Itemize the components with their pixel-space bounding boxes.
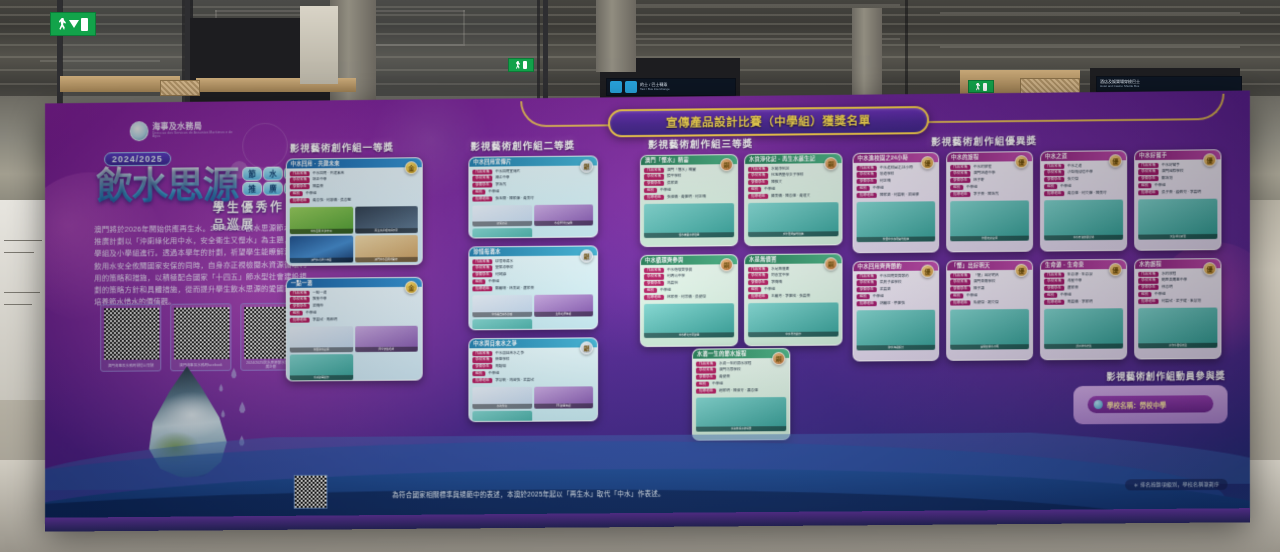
entry-meta-key: 組別 [644,188,657,194]
entry-meta-key: 參賽學生 [1138,285,1158,291]
entry-screenshot[interactable]: 同學訪談紀錄 [355,326,418,352]
entry-meta-row: 組別中學組 [1138,182,1217,188]
entry-meta-key: 學校名稱 [748,273,768,279]
entry-card[interactable]: 中水回用齊齊節約優作品名稱中水回用齊齊節約學校名稱菜農子弟學校參賽學生梁嘉樂組別… [853,260,940,361]
entry-meta-value: 周穎琳 [495,364,506,369]
entry-meta-key: 組別 [950,185,963,191]
entry-meta: 作品名稱中水與自來水之爭學校名稱新華學校參賽學生周穎琳組別中學組指導老師李慧敏 … [469,347,597,385]
entry-screenshot[interactable]: VS 動畫海報 [534,386,593,408]
entry-meta-row: 學校名稱澳門東南學校 [950,279,1029,285]
mobilization-school-pill: 學校名稱：勞校中學 [1088,395,1214,413]
entry-card[interactable]: 中水回用宣傳片銀作品名稱中水回用宣傳片學校名稱濠江中學參賽學生李浩然組別中學組指… [468,155,598,238]
entry-meta-value: 水質淨化記 [771,166,789,171]
entry-meta-row: 指導老師張玉蘭 · 陳家輝 · 黃美玲 [472,195,594,202]
entry-meta-key: 組別 [472,189,485,195]
entry-meta-row: 組別中學組 [748,286,838,292]
entry-screenshot[interactable]: 水滴動畫創作 [290,354,353,380]
screenshot-caption: 水資源對比實驗 [534,220,593,226]
taxi-icon [610,81,622,93]
exit-sign-left [50,12,96,36]
entry-meta-key: 學校名稱 [290,178,310,184]
entry-screenshot[interactable]: 校園節水宣傳 [290,326,353,352]
entry-meta-value: 陳子謙 [973,286,984,291]
entry-screenshot[interactable]: 訪問片段 [472,205,531,227]
awards-banner: 宣傳產品設計比賽（中學組）獲獎名單 [608,106,929,137]
entry-meta-key: 指導老師 [1044,191,1064,197]
entry-screenshot[interactable]: 水滴旅程手繪場景 [696,397,786,432]
entry-screenshot[interactable]: 中水循環宣傳短劇 [472,319,531,330]
entry-meta-key: 組別 [1138,292,1151,298]
entry-meta-key: 參賽學生 [472,272,492,278]
entry-screenshot[interactable]: 天台綠化澆灌 [1138,199,1217,240]
entry-meta-value: 澳門培道中學 [973,171,995,176]
entry-meta-value: 李曉晴 [771,280,782,285]
screenshot-caption: 慳水精靈手繪插畫 [644,232,734,238]
entry-meta-row: 指導老師周嘉儀 · 李家明 [1044,299,1123,305]
section-heading-merit: 影視藝術創作組優異獎 [931,133,1037,148]
terminal-scene: 的士 / 巴士轉乘 Taxi / Bus Interchange 酒店及娛樂場穿… [0,0,1280,552]
entry-meta-value: 吳家樂 [667,181,678,186]
entry-meta-key: 作品名稱 [472,259,492,265]
title-bubble-0: 節 [242,167,262,181]
entry-meta-value: 陳嘉豪 [313,184,324,189]
entry-meta-row: 學校名稱化地瑪聖母女子學校 [748,172,838,178]
entry-meta-key: 學校名稱 [472,357,492,363]
entry-meta-value: 澳門東南學校 [973,280,995,285]
entry-meta-value: 胡麗珍 · 蔡偉強 [880,301,905,306]
entry-screenshot[interactable]: 校園走廊宣傳 [950,200,1029,241]
entry-screenshot[interactable]: 節水海報設計 [857,310,936,351]
entry-meta-row: 參賽學生何婉婷 [472,271,594,277]
entry-card[interactable]: 一點一滴金作品名稱一點一滴學校名稱教業中學參賽學生梁曉彤組別中學組指導老師李嘉欣… [286,277,423,382]
entry-meta-value: 陳雅文 [771,180,782,185]
entry-screenshot[interactable]: 中水轉化示意動畫 [644,303,734,338]
entry-meta-key: 作品名稱 [1044,272,1064,278]
entry-meta-key: 指導老師 [696,388,716,394]
entry-meta-row: 組別中學組 [857,293,936,299]
title-bubble-5: 廣 [263,181,283,195]
screenshot-caption: 校園節水宣傳 [290,347,353,352]
entry-meta-value: 化地瑪聖母女子學校 [771,173,803,178]
entry-meta-key: 學校名稱 [1138,278,1158,284]
entry-title: 「慳」出好明天 [951,262,990,269]
section-heading-third: 影視藝術創作組三等獎 [648,136,753,151]
entry-meta-row: 參賽學生馮嘉怡 [644,280,734,286]
entry-meta-row: 組別中學組 [950,293,1029,299]
entry-meta-key: 參賽學生 [644,181,664,187]
entry-meta-value: 蘇美儀 · 陳志偉 · 黃頌文 [771,193,810,198]
entry-meta-key: 指導老師 [857,301,877,307]
entry-screenshots: 校園中水應用實地拍攝 [854,199,939,245]
entry-meta-value: 李浩然 [495,183,506,188]
entry-meta-value: 澳門國際學校 [1162,169,1184,174]
entry-title: 中水好幫手 [1139,152,1167,159]
entry-meta-key: 組別 [696,381,709,386]
entry-meta-value: 珍惜每滴水 [495,259,513,264]
entry-meta-row: 學校名稱教業中學 [290,296,419,302]
entry-meta-key: 作品名稱 [748,166,768,172]
entry-card[interactable]: 中水的旅程優作品名稱中水的旅程學校名稱澳門培道中學參賽學生林子軒組別中學組指導老… [946,151,1033,252]
entry-meta-key: 作品名稱 [1138,162,1158,168]
entry-meta-key: 學校名稱 [644,174,664,180]
entry-meta-row: 指導老師黃志偉 · 何文輝 · 陳美玲 [1044,190,1123,196]
entry-title: 中水的旅程 [951,154,979,161]
entry-meta-value: 利瑪竇中學 [667,274,685,279]
entry-meta-value: 中學組 [712,381,723,386]
entry-meta-key: 學校名稱 [857,172,877,178]
screenshot-caption: 中水書法創作 [748,332,838,338]
qr-image[interactable] [174,307,229,359]
government-logo: 海事及水務局 Direccao dos Servicos de Assuntos… [130,119,237,142]
entry-meta-value: 中學組 [488,371,499,376]
entry-meta-key: 參賽學生 [857,179,877,185]
entry-card[interactable]: 生命源 · 生命泉優作品名稱生命源 · 生命泉學校名稱海星中學參賽學生盧家豪組別… [1040,259,1127,360]
entry-meta-row: 學校名稱鮑思高粵華中學 [1138,278,1217,284]
entry-meta-row: 參賽學生張文傑 [1044,176,1123,182]
entry-meta-key: 組別 [290,311,303,316]
screenshot-caption: 天台綠化澆灌 [1138,234,1217,240]
entry-meta-value: 澳門坊眾學校 [719,368,741,373]
wayfinding-en: Taxi / Bus Interchange [640,87,670,92]
entry-meta-key: 學校名稱 [857,280,877,286]
entry-meta-value: 「慳」出好明天 [973,273,998,278]
entry-meta-row: 組別中學組 [950,184,1029,190]
screenshot-caption: 中水管道參觀記錄 [1044,235,1123,241]
entry-meta-value: 何芷晴 [880,179,891,184]
entry-meta-value: 趙家明 · 陳淑芬 · 蕭志偉 [719,388,758,393]
entry-meta-value: 鄭浩賢 [1162,176,1173,181]
entry-meta-row: 指導老師李嘉欣 · 周啟明 [290,316,419,322]
screenshot-caption: 親子節水訪談 [1044,343,1123,349]
entry-meta-value: 菜農子弟學校 [880,280,902,285]
entry-meta-key: 學校名稱 [748,173,768,179]
entry-meta-value: 何嘉欣 · 梁子健 · 朱慧賢 [1162,298,1201,303]
entry-meta-key: 組別 [644,288,657,293]
entry-meta-key: 組別 [857,186,870,192]
medal-icon: 銀 [580,249,593,262]
entry-meta-key: 指導老師 [748,294,768,300]
awards-banner-title: 宣傳產品設計比賽（中學組）獲獎名單 [666,113,871,131]
bus-icon [625,81,637,93]
entry-screenshot[interactable]: 節水小廚房 [472,411,531,422]
exit-sign-mid [508,58,534,72]
entry-card[interactable]: 中水回用 · 共建未來金作品名稱中水回用 · 共建未來學校名稱培正中學參賽學生陳… [286,157,423,266]
entry-meta-value: 中學組 [306,191,317,196]
entry-title: 中水回用宣傳片 [473,158,511,165]
entry-meta-row: 指導老師蘇美儀 · 陳志偉 · 黃頌文 [748,193,838,199]
section-heading-first: 影視藝術創作組一等獎 [290,140,394,155]
entry-meta-value: 一點一滴 [313,290,327,295]
entry-meta-row: 學校名稱海星中學 [1044,278,1123,284]
entry-meta-key: 學校名稱 [696,368,716,374]
entry-meta-key: 指導老師 [472,378,492,384]
entry-meta-key: 參賽學生 [1138,176,1158,182]
medal-icon: 銀 [580,341,593,354]
title-bubble-4: 推 [242,182,262,196]
entry-screenshot[interactable]: 再生水處理流程示意 [355,206,418,233]
entry-meta-key: 參賽學生 [1044,286,1064,292]
entry-meta-value: 黃俊豪 [719,375,730,380]
entry-meta-key: 指導老師 [290,198,310,204]
entry-screenshots: 水滴旅程手繪場景 [693,395,789,435]
entry-meta-value: 黃志強 · 何惠儀 · 吳志堅 [313,198,351,203]
entry-screenshot[interactable]: 中水回用 共建未來 [290,207,353,234]
entry-meta-value: 澳門「慳水」精靈 [667,167,696,172]
entry-title: 中水之道 [1045,153,1067,160]
entry-meta-value: 水是無價寶 [771,266,789,271]
entry-meta-value: 張文傑 [1067,177,1078,182]
entry-screenshot[interactable]: 中水與自來水比較 [472,295,531,317]
entry-card[interactable]: 水滴一生的節水旅程銅作品名稱水滴一生的節水旅程學校名稱澳門坊眾學校參賽學生黃俊豪… [692,348,790,441]
entry-title: 生命源 · 生命泉 [1045,261,1084,268]
entry-title: 中水進校園之24小時 [858,154,909,162]
entry-screenshots: 中水管道參觀記錄 [1041,198,1126,244]
screenshot-caption: 校園中水應用實地拍攝 [857,236,936,242]
entry-meta: 作品名稱珍惜每滴水學校名稱聖保祿學校參賽學生何婉婷組別中學組指導老師鄭麗珊 · … [469,255,597,293]
medal-icon: 銅 [824,157,837,170]
entry-meta-value: 中學組 [873,186,884,191]
entry-meta-value: 培正中學 [313,178,327,183]
entry-meta-value: 中水好幫手 [1162,162,1180,167]
entry-card[interactable]: 中水與自來水之爭銀作品名稱中水與自來水之爭學校名稱新華學校參賽學生周穎琳組別中學… [468,337,598,422]
entry-card[interactable]: 澳門「慳水」精靈銅作品名稱澳門「慳水」精靈學校名稱鏡平學校參賽學生吳家樂組別中學… [640,154,738,247]
entry-screenshot[interactable]: 實驗室節水示範 [950,309,1029,350]
entry-screenshot[interactable]: 中水管道參觀記錄 [1044,200,1123,241]
mobilization-school: 學校名稱：勞校中學 [1107,399,1166,409]
entry-screenshot[interactable]: 生命之源海報 [534,294,593,316]
entry-meta-row: 參賽學生林子軒 [950,177,1029,183]
entry-meta-row: 學校名稱同善堂中學 [748,273,838,279]
entry-meta-key: 作品名稱 [857,274,877,280]
entry-meta-key: 組別 [748,287,761,293]
entry-meta-row: 作品名稱中水回用宣傳片 [472,168,594,175]
entry-meta-value: 中學組 [660,288,671,293]
droplet-bullet-icon [1094,400,1103,409]
entry-meta-row: 參賽學生陳子謙 [950,286,1029,292]
footer-qr-code[interactable] [294,475,328,509]
entry-title: 水質淨化記 · 再生水誕生記 [749,155,815,163]
mobilization-award-heading: 影視藝術創作組動員參與獎 [1106,369,1225,383]
entry-title: 澳門「慳水」精靈 [645,157,689,164]
entry-meta-key: 參賽學生 [696,375,716,381]
entry-meta-value: 中學組 [764,287,775,292]
entry-card[interactable]: 中水之道優作品名稱中水之道學校名稱沙梨頭浸信中學參賽學生張文傑組別中學組指導老師… [1040,150,1127,251]
entry-meta-value: 中學組 [1060,184,1071,189]
entry-meta-key: 組別 [290,191,303,196]
entry-meta-value: 徐志明 [1162,285,1173,290]
entry-meta-value: 陳家樂 · 何嘉敏 · 梁國權 [880,192,919,197]
entry-screenshot[interactable]: 戶外灌溉實地拍攝 [748,202,838,237]
entry-meta-key: 作品名稱 [290,290,310,296]
entry-meta-value: 吳子豪 · 鍾佩兒 · 李嘉明 [1162,190,1201,195]
entry-meta-value: 盧家豪 [1067,286,1078,291]
entry-meta-row: 學校名稱沙梨頭浸信中學 [1044,170,1123,176]
entry-screenshot[interactable]: 水資源對比實驗 [534,204,593,226]
entry-meta-row: 學校名稱庇道學校 [857,171,936,177]
entry-meta-key: 參賽學生 [748,180,768,186]
entry-meta-row: 組別中學組 [290,310,419,316]
entry-meta-value: 海星中學 [1067,279,1082,284]
entry-screenshots: 戶外灌溉實地拍攝 [745,200,841,240]
entry-screenshots: 中水轉化示意動畫 [641,301,737,341]
entry-meta-value: 新華學校 [495,357,509,362]
entry-meta-value: 中學組 [488,189,499,194]
entry-screenshot[interactable]: 慳水精靈手繪插畫 [644,203,734,238]
entry-meta: 作品名稱中水回用 · 共建未來學校名稱培正中學參賽學生陳嘉豪組別中學組指導老師黃… [287,167,422,205]
entry-meta-value: 中學組 [488,279,499,284]
entry-meta-key: 指導老師 [950,192,970,198]
entry-meta-row: 作品名稱珍惜每滴水 [472,258,594,264]
entry-screenshots: 實驗室節水示範 [947,307,1032,353]
entry-meta-key: 作品名稱 [857,165,877,171]
entry-meta-key: 作品名稱 [748,266,768,272]
entry-meta-value: 沙梨頭浸信中學 [1067,170,1092,175]
screenshot-caption: VS 動畫海報 [534,403,593,408]
entry-screenshot[interactable]: 手作水循環模型 [1138,308,1217,349]
entry-meta-key: 組別 [472,279,485,284]
entry-meta-key: 指導老師 [857,192,877,198]
entry-meta-row: 指導老師林家豪 · 何潔儀 · 吳俊傑 [644,294,734,300]
entry-meta-row: 指導老師黃志強 · 何惠儀 · 吳志堅 [290,197,419,204]
wayfinding-sign-shuttle: 酒店及娛樂場穿梭巴士 Hotel and Casino Shuttle Bus [1096,76,1242,92]
entry-card[interactable]: 水的旅程優作品名稱水的旅程學校名稱鮑思高粵華中學參賽學生徐志明組別中學組指導老師… [1134,258,1221,359]
entry-meta-value: 李子豪 · 陳浩然 [973,191,998,196]
entry-meta-row: 組別中學組 [290,190,419,197]
medal-icon: 優 [1109,154,1122,167]
entry-meta-value: 聖保祿學校 [495,266,513,271]
entry-meta-row: 參賽學生李曉晴 [748,279,838,285]
entry-card[interactable]: 水質淨化記 · 再生水誕生記銅作品名稱水質淨化記學校名稱化地瑪聖母女子學校參賽學… [744,153,842,246]
entry-meta-row: 參賽學生梁嘉樂 [857,287,936,293]
entry-meta-value: 庇道學校 [880,172,894,177]
screenshot-caption: 節水海報設計 [857,345,936,351]
entry-card[interactable]: 珍惜每滴水銀作品名稱珍惜每滴水學校名稱聖保祿學校參賽學生何婉婷組別中學組指導老師… [468,245,598,330]
entry-meta-row: 參賽學生徐志明 [1138,284,1217,290]
entry-screenshot[interactable]: 澳門水資源分佈圖 [290,236,353,263]
mobilization-award-card: 學校名稱：勞校中學 [1073,385,1227,424]
left-wall-panel [0,200,46,400]
entry-meta-row: 指導老師張淑儀 · 黃偉明 · 何芷晴 [644,194,734,200]
entry-meta-row: 組別中學組 [644,187,734,193]
entry-meta-key: 參賽學生 [950,286,970,292]
entry-meta-row: 參賽學生何芷晴 [857,178,936,184]
entry-screenshot[interactable]: 澳門中水回用規劃表 [355,235,418,262]
screenshot-caption: 再生水處理流程示意 [355,228,418,234]
medal-icon: 金 [405,161,418,174]
screenshot-caption: 校園走廊宣傳 [950,236,1029,242]
entry-meta-value: 濠江中學 [495,176,509,181]
entry-meta-value: 林子軒 [973,178,984,183]
entry-meta-value: 黃志偉 · 何文輝 · 陳美玲 [1067,190,1106,195]
screenshot-caption: 戶外灌溉實地拍攝 [748,231,838,237]
screenshot-caption: 中水回用 共建未來 [290,229,353,235]
structural-pillar [596,0,636,72]
screenshot-caption: 中水轉化示意動畫 [644,332,734,338]
entry-screenshots: 中水回用 共建未來再生水處理流程示意澳門水資源分佈圖澳門中水回用規劃表 [287,204,422,266]
entry-meta-value: 梁嘉樂 [880,287,891,292]
structural-pillar [852,8,882,98]
entry-title: 水的旅程 [1139,261,1161,268]
entry-meta: 作品名稱一點一滴學校名稱教業中學參賽學生梁曉彤組別中學組指導老師李嘉欣 · 周啟… [287,287,422,325]
entry-meta-value: 鄭麗珊 · 林美霞 · 盧家豪 [495,286,534,291]
entry-meta-key: 作品名稱 [472,351,492,357]
entry-card[interactable]: 水是無價寶銅作品名稱水是無價寶學校名稱同善堂中學參賽學生李曉晴組別中學組指導老師… [744,253,842,346]
entry-meta-value: 中水之道 [1067,163,1082,168]
entry-card[interactable]: 中水好幫手優作品名稱中水好幫手學校名稱澳門國際學校參賽學生鄭浩賢組別中學組指導老… [1134,149,1221,251]
entry-meta-row: 學校名稱澳門坊眾學校 [696,367,786,373]
exhibition-board: 宣傳產品設計比賽（中學組）獲獎名單 海事及水務局 Direccao dos Se… [45,90,1250,523]
medal-icon: 銀 [580,159,593,172]
entry-screenshot[interactable]: 中水回用小劇場 [472,228,531,239]
entry-meta-value: 林家豪 · 何潔儀 · 吳俊傑 [667,294,706,299]
entry-title: 水是無價寶 [749,256,777,263]
entry-meta-key: 作品名稱 [472,169,492,175]
entry-meta-key: 參賽學生 [472,364,492,370]
entry-meta-value: 張玉蘭 · 陳家輝 · 黃美玲 [495,196,534,201]
entry-meta-row: 參賽學生鄭浩賢 [1138,176,1217,182]
entry-meta-key: 學校名稱 [1138,169,1158,175]
entry-screenshots: 節水海報設計 [854,308,939,354]
entry-meta-row: 作品名稱中水回用 · 共建未來 [290,170,419,177]
service-counter [300,6,338,84]
entry-screenshot[interactable]: 親子節水訪談 [1044,308,1123,349]
entry-title: 中水循環齊參與 [645,257,683,264]
entry-card[interactable]: 「慳」出好明天優作品名稱「慳」出好明天學校名稱澳門東南學校參賽學生陳子謙組別中學… [946,260,1033,361]
section-heading-second: 影視藝術創作組二等獎 [470,138,575,153]
entry-meta-key: 組別 [748,187,761,193]
medal-icon: 優 [921,156,934,169]
qr-image[interactable] [104,308,159,360]
entry-meta-row: 參賽學生陳嘉豪 [290,183,419,190]
entry-meta-key: 指導老師 [644,294,664,300]
entry-meta-row: 組別中學組 [1044,292,1123,298]
entry-meta-key: 學校名稱 [644,274,664,280]
entry-meta-value: 中水進校園之24小時 [880,165,913,170]
entry-meta-row: 參賽學生周穎琳 [472,363,594,369]
entry-meta-row: 參賽學生梁曉彤 [290,303,419,309]
entry-card[interactable]: 中水循環齊參與銅作品名稱中水循環齊參與學校名稱利瑪竇中學參賽學生馮嘉怡組別中學組… [640,254,738,347]
entry-screenshot[interactable]: 水的對決 [472,387,531,409]
entry-meta-value: 鏡平學校 [667,174,681,179]
screenshot-caption: 水的對決 [472,404,531,409]
entry-screenshot[interactable]: 中水書法創作 [748,302,838,337]
entry-meta-row: 學校名稱利瑪竇中學 [644,274,734,280]
medal-icon: 銅 [824,257,837,270]
entry-meta-key: 學校名稱 [950,171,970,177]
entry-meta-value: 中學組 [1060,293,1071,298]
campaign-title-lockup: 2024/2025 飲水思源 節水教育推廣計劃 學生優秀作品巡展 [96,151,294,218]
entry-title: 中水回用 · 共建未來 [291,160,340,167]
entry-meta-key: 組別 [950,293,963,299]
entry-meta-row: 組別中學組 [472,278,594,284]
entry-meta-row: 指導老師胡麗珍 · 蔡偉強 [857,300,936,306]
entry-meta-row: 組別中學組 [857,185,936,191]
entry-meta-value: 王麗芳 · 李偉成 · 張嘉豪 [771,293,810,298]
medal-icon: 優 [1015,264,1028,277]
title-bubble-1: 水 [263,167,283,181]
entry-meta-row: 指導老師何嘉欣 · 梁子健 · 朱慧賢 [1138,298,1217,304]
entry-meta-key: 學校名稱 [1044,279,1064,285]
entry-meta-row: 指導老師吳子豪 · 鍾佩兒 · 李嘉明 [1138,189,1217,195]
screenshot-caption: 訪問片段 [472,221,531,227]
entry-screenshot[interactable]: 校園中水應用實地拍攝 [857,201,936,242]
entry-meta-row: 參賽學生黃俊豪 [696,374,786,380]
entry-meta-key: 參賽學生 [472,183,492,189]
exit-sign-right [968,80,994,93]
entry-meta-key: 學校名稱 [472,266,492,272]
entry-screenshots: 手作水循環模型 [1135,305,1220,351]
entry-card[interactable]: 中水進校園之24小時優作品名稱中水進校園之24小時學校名稱庇道學校參賽學生何芷晴… [853,152,940,253]
